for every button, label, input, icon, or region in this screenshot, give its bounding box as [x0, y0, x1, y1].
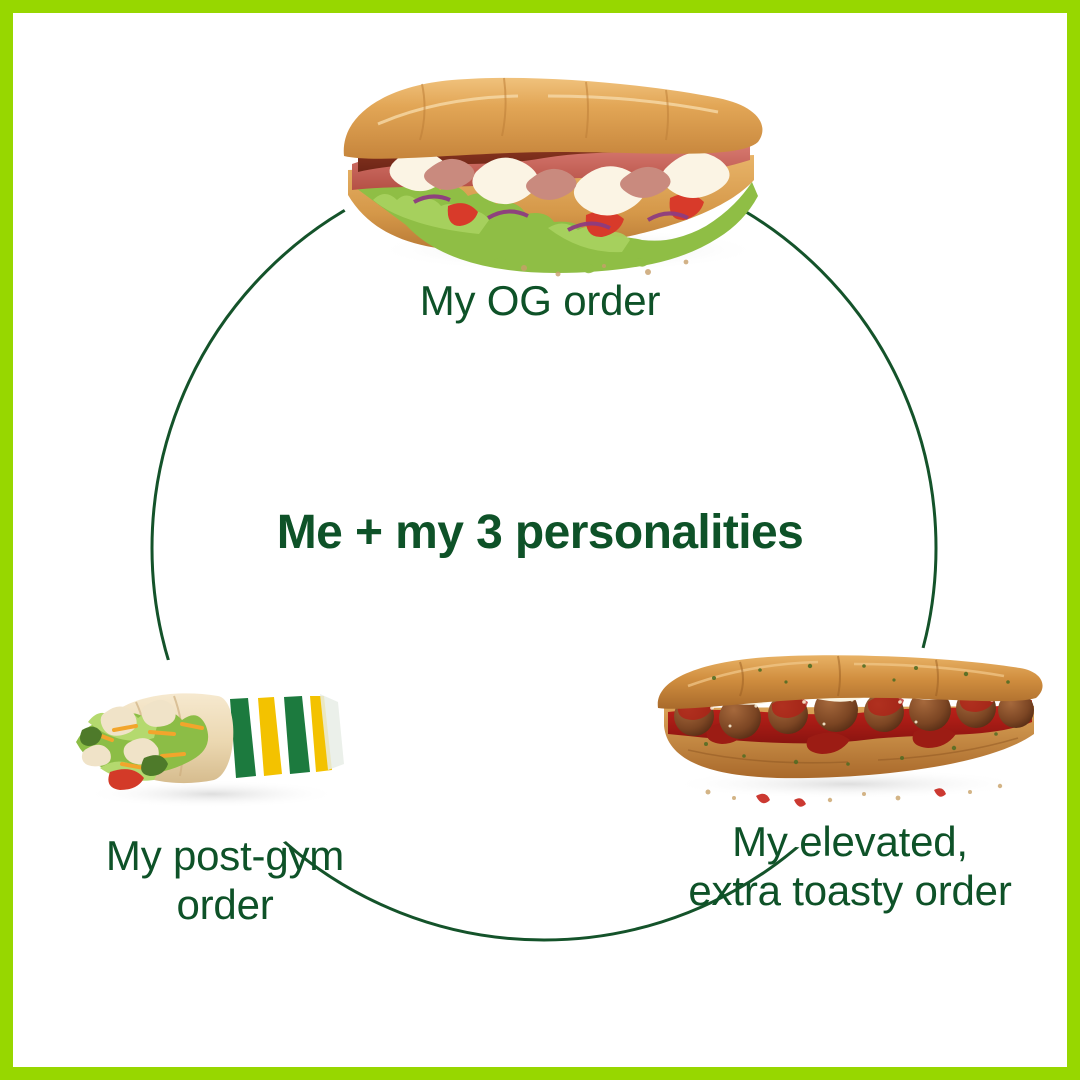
label-line-2: order — [176, 881, 273, 928]
page-title: Me + my 3 personalities — [140, 505, 940, 560]
label-line-2: extra toasty order — [688, 867, 1011, 914]
label-my-og-order: My OG order — [290, 277, 790, 326]
label-line-1: My post-gym — [106, 832, 344, 879]
social-post-canvas: My OG order My post-gym order My elevate… — [0, 0, 1080, 1080]
label-my-post-gym-order: My post-gym order — [70, 832, 380, 929]
subway-wrap — [62, 672, 362, 812]
club-sub-sandwich — [318, 60, 778, 280]
label-line-1: My elevated, — [732, 818, 968, 865]
label-my-elevated-extra-toasty-order: My elevated, extra toasty order — [650, 818, 1050, 915]
meatball-marinara-sub — [648, 648, 1052, 818]
